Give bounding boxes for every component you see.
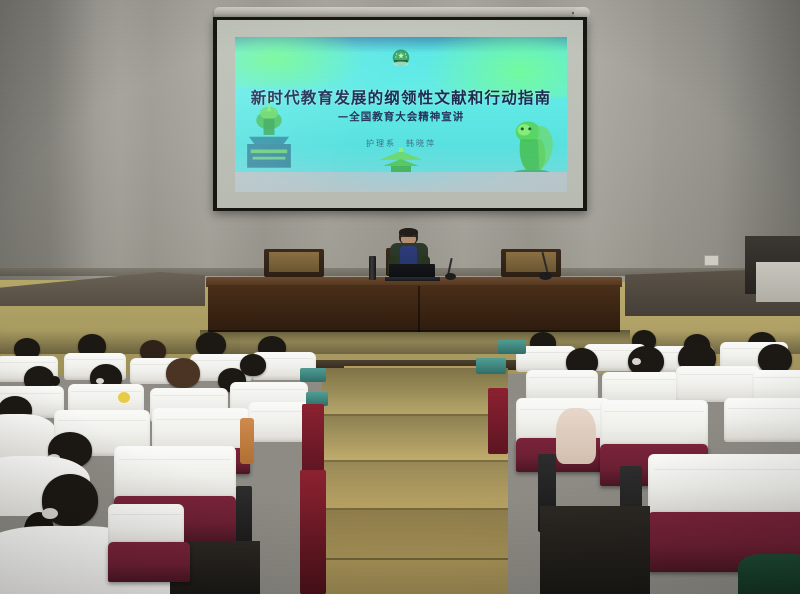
seat-teal-panel <box>498 340 526 354</box>
laptop-base <box>385 277 440 281</box>
audience-right-block <box>480 336 800 594</box>
mic-stem <box>541 252 548 273</box>
seat-cover <box>648 454 800 520</box>
seat-end-post <box>302 404 324 474</box>
projected-slide: 新时代教育发展的纲领性文献和行动指南 —全国教育大会精神宣讲 护理系 韩晓萍 <box>235 37 567 192</box>
hair-bun <box>50 376 60 386</box>
floor-shadow <box>540 506 650 594</box>
mic-base <box>445 273 456 280</box>
mic-stem <box>447 258 452 274</box>
slide-presenter-line: 护理系 韩晓萍 <box>235 138 567 149</box>
stage-chair-right <box>501 249 561 277</box>
mic-base <box>539 272 552 280</box>
microphone-left[interactable] <box>444 258 456 280</box>
national-emblem-icon <box>386 45 416 75</box>
stage-chair-left <box>264 249 324 277</box>
audience-green-jacket <box>738 554 800 594</box>
thermos-flask[interactable] <box>369 256 376 280</box>
seat-cover <box>676 366 760 402</box>
side-cabinet-light <box>756 262 800 302</box>
chair-pad <box>269 252 319 272</box>
microphone-right[interactable] <box>538 252 552 280</box>
audience-head <box>166 358 200 388</box>
yellow-object <box>118 392 130 403</box>
slide-glow-left <box>235 37 365 87</box>
presenter-desk <box>208 285 620 332</box>
audience-arm <box>556 408 596 464</box>
seat-back[interactable] <box>108 542 190 582</box>
slide-title: 新时代教育发展的纲领性文献和行动指南 <box>235 86 567 108</box>
seat-cover <box>724 398 800 442</box>
slide-ground-band <box>235 172 567 192</box>
desk-panel-seam <box>418 286 420 332</box>
glasses-icon <box>401 236 416 240</box>
temple-pavilion-graphic <box>371 148 431 174</box>
presenter-hair <box>399 228 418 236</box>
seat-end-post <box>488 388 508 454</box>
seat-end-post <box>300 470 326 594</box>
wall-power-outlet[interactable] <box>704 255 719 266</box>
hair-tie <box>632 358 641 365</box>
hair-tie <box>42 508 58 519</box>
seat-teal-panel <box>476 358 506 374</box>
audience-left-block <box>0 336 340 594</box>
audience-head <box>240 354 266 376</box>
pull-down-projector-screen: 新时代教育发展的纲领性文献和行动指南 —全国教育大会精神宣讲 护理系 韩晓萍 <box>213 17 587 211</box>
orange-bag-strap <box>240 418 254 464</box>
screen-roller-screw <box>572 12 574 14</box>
slide-subtitle: —全国教育大会精神宣讲 <box>235 109 567 124</box>
screen-surface: 新时代教育发展的纲领性文献和行动指南 —全国教育大会精神宣讲 护理系 韩晓萍 <box>217 20 583 208</box>
lecture-hall-photo: 新时代教育发展的纲领性文献和行动指南 —全国教育大会精神宣讲 护理系 韩晓萍 <box>0 0 800 594</box>
seat-teal-panel <box>300 368 326 382</box>
